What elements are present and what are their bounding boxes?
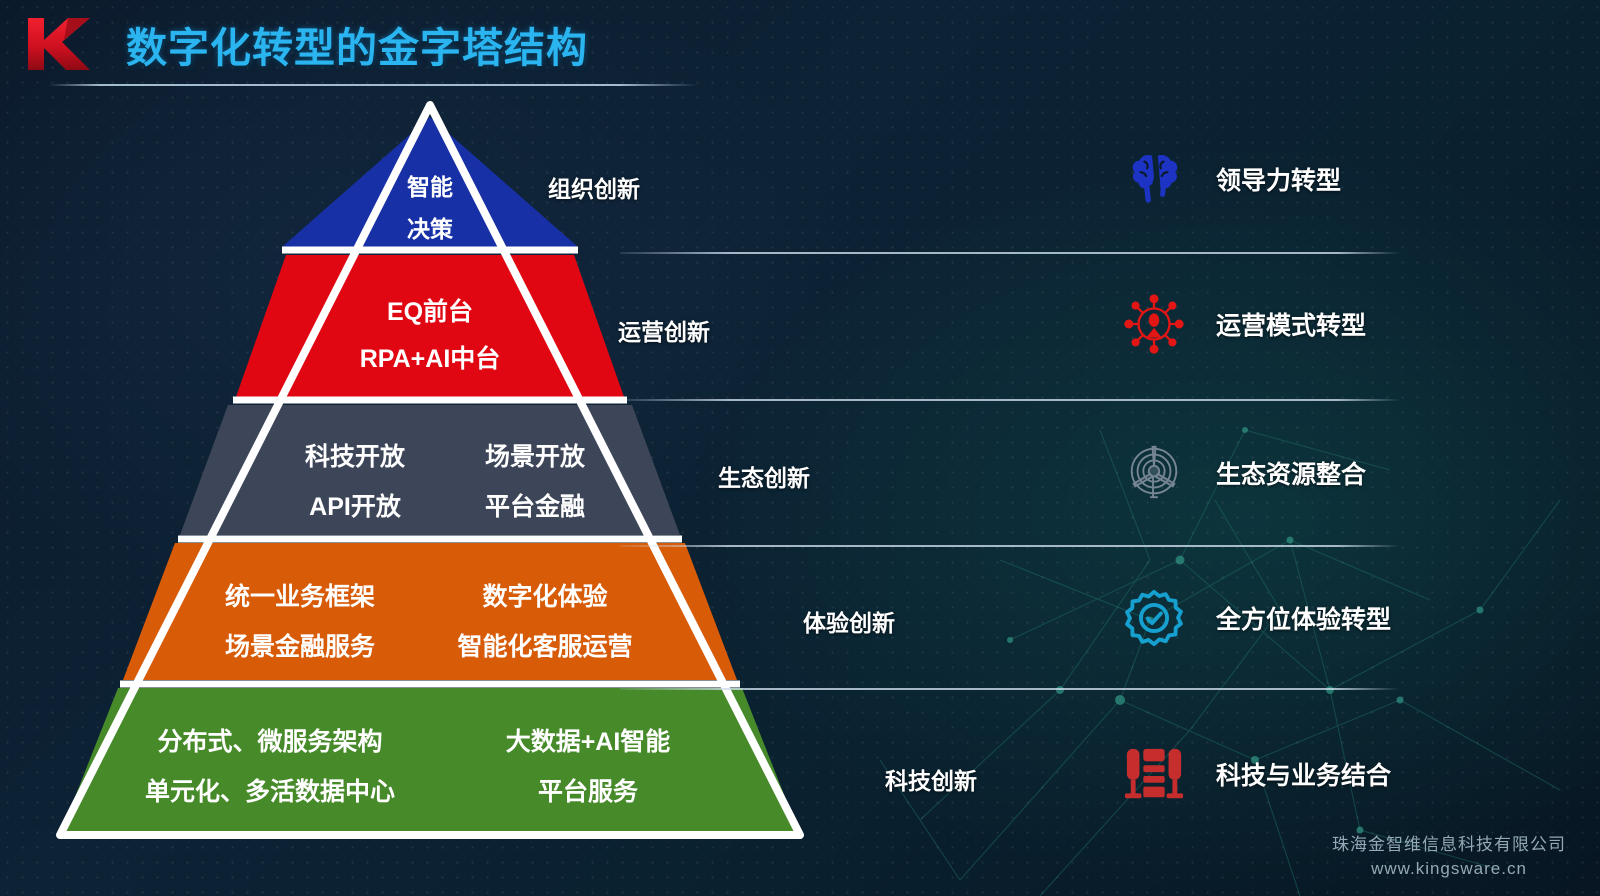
right-label: 科技与业务结合: [1216, 756, 1391, 792]
tier-text: 平台服务: [538, 777, 638, 806]
stage-label-technology-innovation: 科技创新: [885, 762, 977, 796]
row-separator: [620, 545, 1400, 547]
tier-text: EQ前台: [387, 297, 473, 326]
pyramid-tier-open-ecosystem[interactable]: 科技开放 API开放 场景开放 平台金融: [180, 405, 680, 535]
stage-label-organization-innovation: 组织创新: [548, 170, 640, 204]
footer-company: 珠海金智维信息科技有限公司: [1332, 833, 1566, 858]
tier-text: API开放: [309, 492, 402, 521]
tier-text: 数字化体验: [482, 582, 607, 611]
right-row-full-experience[interactable]: 全方位体验转型: [1118, 572, 1588, 664]
tier-text: RPA+AI中台: [360, 344, 501, 373]
tier-text: 决策: [407, 216, 454, 242]
wind-turbine-icon: [1118, 437, 1190, 509]
tier-text: 分布式、微服务架构: [157, 727, 382, 756]
stage-label-ecosystem-innovation: 生态创新: [718, 459, 810, 493]
server-rack-icon: [1118, 738, 1190, 810]
tier-text: 场景金融服务: [225, 632, 375, 661]
row-separator: [620, 252, 1400, 254]
tier-text: 单元化、多活数据中心: [145, 778, 395, 806]
right-label: 运营模式转型: [1216, 306, 1366, 342]
pyramid-diagram: 分布式、微服务架构 大数据+AI智能 单元化、多活数据中心 大数据+AI智能 平…: [0, 95, 960, 855]
stage-label-operation-innovation: 运营创新: [618, 313, 710, 347]
right-label: 领导力转型: [1216, 161, 1341, 197]
page-title: 数字化转型的金字塔结构: [126, 14, 588, 74]
pyramid-tier-technology-foundation[interactable]: 分布式、微服务架构 大数据+AI智能 单元化、多活数据中心 大数据+AI智能 平…: [60, 688, 800, 835]
tier-text: 科技开放: [305, 442, 406, 471]
right-row-tech-business[interactable]: 科技与业务结合: [1118, 728, 1588, 820]
footer: 珠海金智维信息科技有限公司 www.kingsware.cn: [1332, 833, 1566, 882]
header: 数字化转型的金字塔结构: [0, 0, 1600, 100]
tier-text: 场景开放: [485, 442, 586, 471]
slide-canvas: 数字化转型的金字塔结构 分布式、微服务架构 大数据+AI智能 单元化、多活数据中…: [0, 0, 1600, 896]
kingsware-k-logo-icon: [22, 12, 94, 74]
right-label: 生态资源整合: [1216, 455, 1366, 491]
footer-url: www.kingsware.cn: [1332, 857, 1566, 882]
tier-text: 智能: [407, 174, 453, 200]
tier-text: 大数据+AI智能: [506, 727, 671, 756]
row-separator: [620, 688, 1400, 690]
tier-text: 平台金融: [485, 492, 585, 521]
stage-label-experience-innovation: 体验创新: [803, 604, 895, 638]
brain-icon: [1118, 143, 1190, 215]
pyramid-tier-experience-platform[interactable]: 统一业务框架 场景金融服务 数字化体验 智能化客服运营: [123, 543, 737, 680]
right-label: 全方位体验转型: [1216, 600, 1391, 636]
gear-check-icon: [1118, 582, 1190, 654]
network-person-icon: [1118, 288, 1190, 360]
right-row-operating-model[interactable]: 运营模式转型: [1118, 278, 1588, 370]
right-row-ecosystem-resources[interactable]: 生态资源整合: [1118, 427, 1588, 519]
row-separator: [620, 399, 1400, 401]
pyramid-tier-intelligent-decision[interactable]: 智能 决策: [282, 117, 578, 247]
right-row-leadership[interactable]: 领导力转型: [1118, 133, 1588, 225]
tier-text: 统一业务框架: [225, 582, 375, 611]
tier-text: 智能化客服运营: [457, 632, 632, 661]
title-underline: [48, 84, 698, 86]
